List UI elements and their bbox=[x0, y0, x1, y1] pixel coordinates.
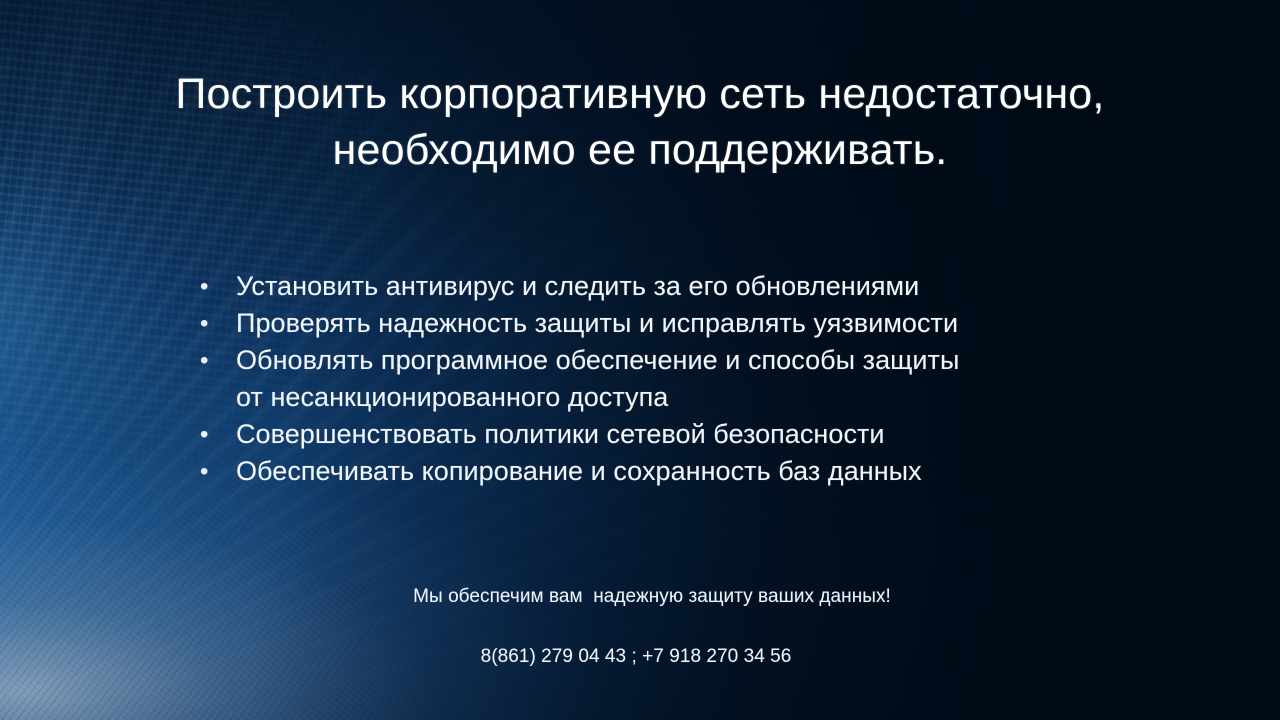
bullet-dot-icon: • bbox=[196, 268, 236, 305]
bullet-dot-icon: • bbox=[196, 342, 236, 379]
list-item-label: Обновлять программное обеспечение и спос… bbox=[236, 342, 1076, 416]
footer-tagline: Мы обеспечим вам надежную защиту ваших д… bbox=[413, 586, 891, 607]
list-item-label: Обеспечивать копирование и сохранность б… bbox=[236, 453, 1076, 490]
list-item-label: Совершенствовать политики сетевой безопа… bbox=[236, 416, 1076, 453]
list-item: • Проверять надежность защиты и исправля… bbox=[196, 305, 1076, 342]
list-item: • Обеспечивать копирование и сохранность… bbox=[196, 453, 1076, 490]
list-item-label: Установить антивирус и следить за его об… bbox=[236, 268, 1076, 305]
list-item: • Совершенствовать политики сетевой безо… bbox=[196, 416, 1076, 453]
list-item-label: Проверять надежность защиты и исправлять… bbox=[236, 305, 1076, 342]
list-item-line-2: от несанкционированного доступа bbox=[236, 379, 1076, 416]
bullet-dot-icon: • bbox=[196, 453, 236, 490]
list-item: • Обновлять программное обеспечение и сп… bbox=[196, 342, 1076, 416]
slide-footer: Мы обеспечим вам надежную защиту ваших д… bbox=[196, 552, 1076, 720]
presentation-slide: Построить корпоративную сеть недостаточн… bbox=[0, 0, 1280, 720]
slide-content: Построить корпоративную сеть недостаточн… bbox=[0, 0, 1280, 720]
bullet-dot-icon: • bbox=[196, 305, 236, 342]
bullet-dot-icon: • bbox=[196, 416, 236, 453]
bullet-list: • Установить антивирус и следить за его … bbox=[196, 268, 1076, 490]
list-item: • Установить антивирус и следить за его … bbox=[196, 268, 1076, 305]
footer-phone-numbers: 8(861) 279 04 43 ; +7 918 270 34 56 bbox=[196, 642, 1076, 672]
slide-title: Построить корпоративную сеть недостаточн… bbox=[96, 66, 1184, 178]
list-item-line-1: Обновлять программное обеспечение и спос… bbox=[236, 345, 959, 375]
